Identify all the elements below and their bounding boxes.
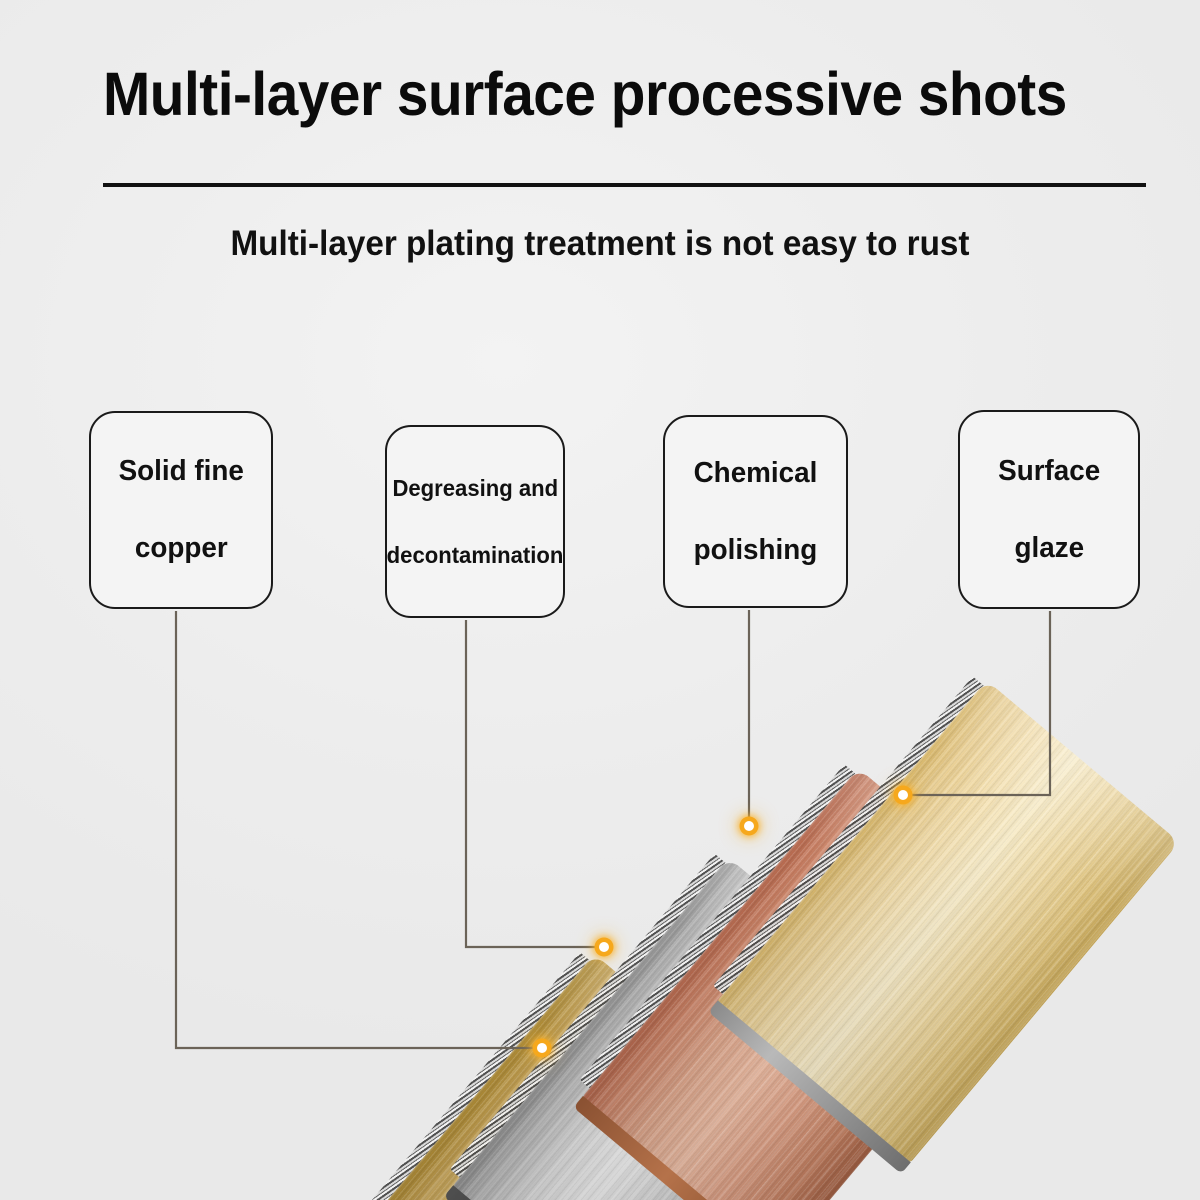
page-subtitle: Multi-layer plating treatment is not eas… xyxy=(30,224,1170,264)
hotspot-chemical-polishing[interactable] xyxy=(744,821,754,831)
callout-degreasing-decontamination[interactable]: Degreasing and decontamination xyxy=(385,425,565,618)
infographic-canvas: Multi-layer surface processive shots Mul… xyxy=(0,0,1200,1200)
callout-label-line2: polishing xyxy=(694,534,818,567)
page-title: Multi-layer surface processive shots xyxy=(103,62,1080,128)
callout-label-line2: glaze xyxy=(1014,532,1084,565)
callout-label-line1: Degreasing and xyxy=(392,475,558,502)
callout-solid-fine-copper[interactable]: Solid fine copper xyxy=(89,411,273,609)
callout-label-line1: Solid fine xyxy=(118,455,243,488)
hotspot-solid-fine-copper[interactable] xyxy=(537,1043,547,1053)
hotspot-surface-glaze[interactable] xyxy=(898,790,908,800)
callout-label-line1: Chemical xyxy=(694,457,818,490)
callout-label-line2: decontamination xyxy=(387,542,564,569)
callout-label-line2: copper xyxy=(135,532,228,565)
callout-chemical-polishing[interactable]: Chemical polishing xyxy=(663,415,848,608)
hotspot-degreasing-decontamination[interactable] xyxy=(599,942,609,952)
callout-surface-glaze[interactable]: Surface glaze xyxy=(958,410,1140,609)
title-divider xyxy=(103,183,1146,187)
callout-label-line1: Surface xyxy=(998,455,1100,488)
